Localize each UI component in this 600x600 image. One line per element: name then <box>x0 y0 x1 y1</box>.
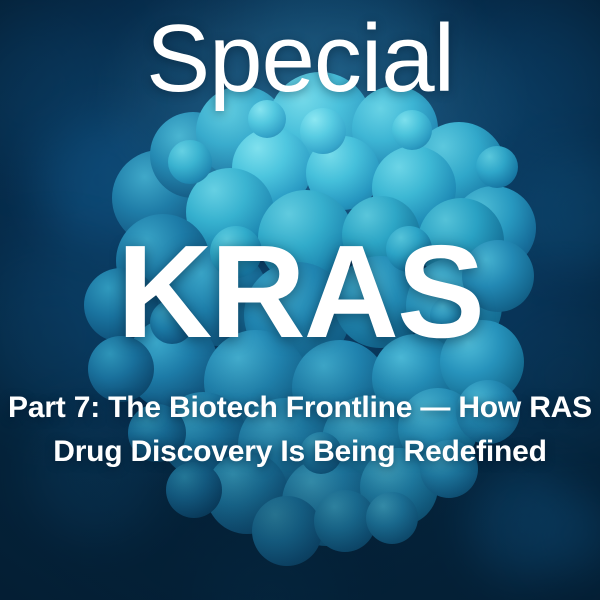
kicker-text: Special <box>0 8 600 110</box>
page-title: KRAS <box>0 226 600 358</box>
kras-special-cover: Special KRAS Part 7: The Biotech Frontli… <box>0 0 600 600</box>
cover-text-layer: Special KRAS Part 7: The Biotech Frontli… <box>0 0 600 600</box>
subtitle-text: Part 7: The Biotech Frontline — How RAS … <box>0 386 600 474</box>
